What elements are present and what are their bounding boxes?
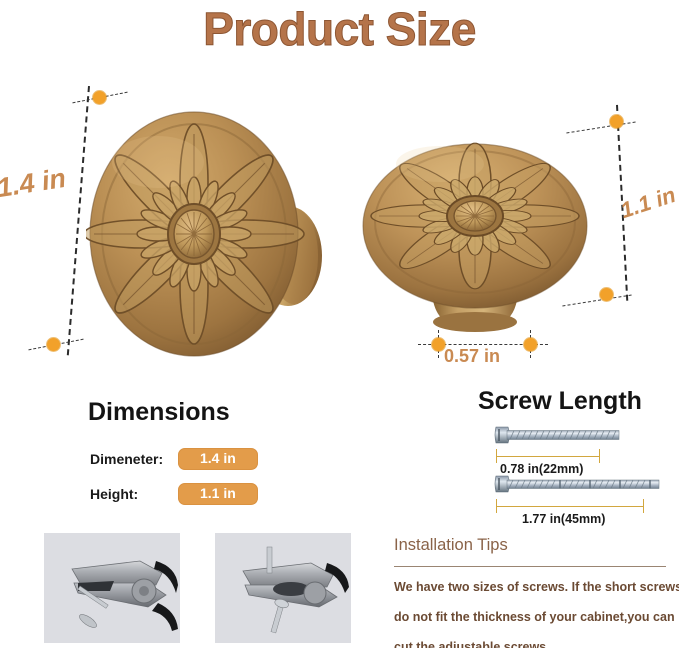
screw-length-heading: Screw Length [478, 387, 642, 416]
short-screw-bracket-bar [496, 456, 600, 457]
adjustable-screw-svg [494, 472, 666, 496]
adjustable-screw-bracket-tick-left [496, 499, 497, 513]
installation-tips-divider [394, 566, 666, 567]
cabinet-knob-front-angle [86, 108, 342, 360]
pliers-cut-screw-photo [215, 533, 351, 643]
installation-tips-heading: Installation Tips [394, 536, 508, 555]
short-screw-bracket-tick-right [599, 449, 600, 463]
installation-tips-line-3: cut the adjustable screws. [394, 632, 679, 648]
adjustable-screw-length-label: 1.77 in(45mm) [522, 512, 605, 526]
dimensions-row-diameter-value: 1.4 in [178, 448, 258, 470]
right-knob-top-marker [610, 115, 623, 128]
dimensions-row-height-value: 1.1 in [178, 483, 258, 505]
installation-tips-line-1: We have two sizes of screws. If the shor… [394, 572, 679, 602]
adjustable-screw-bracket-bar [496, 506, 644, 507]
right-knob-dimension-label: 1.1 in [617, 182, 679, 224]
left-knob-dimension-label: 1.4 in [0, 163, 68, 204]
pliers-cut-screw-image [215, 533, 351, 643]
pliers-cutting-screw-image [44, 533, 180, 643]
dimensions-heading: Dimensions [88, 398, 230, 427]
base-width-right-marker [524, 338, 537, 351]
installation-tips-line-2: do not fit the thickness of your cabinet… [394, 602, 679, 632]
left-knob-top-marker [93, 91, 106, 104]
dimensions-row-diameter: Dimeneter: 1.4 in [90, 448, 258, 470]
right-knob-bottom-marker [600, 288, 613, 301]
pliers-cutting-screw-photo [44, 533, 180, 643]
product-size-infographic: Product Size [0, 0, 679, 648]
installation-tips-body: We have two sizes of screws. If the shor… [394, 572, 679, 648]
cabinet-knob-top-angle [356, 122, 596, 340]
dimensions-row-diameter-label: Dimeneter: [90, 451, 178, 467]
short-screw-graphic [494, 423, 624, 452]
dimensions-row-height: Height: 1.1 in [90, 483, 258, 505]
knob-left-svg [86, 108, 342, 360]
page-title: Product Size [0, 2, 679, 56]
adjustable-screw-graphic [494, 472, 666, 501]
adjustable-screw-bracket-tick-right [643, 499, 644, 513]
knob-right-svg [356, 122, 596, 340]
short-screw-svg [494, 423, 624, 447]
short-screw-bracket-tick-left [496, 449, 497, 463]
dimensions-row-height-label: Height: [90, 486, 178, 502]
base-width-label: 0.57 in [444, 346, 500, 367]
left-knob-bottom-marker [47, 338, 60, 351]
